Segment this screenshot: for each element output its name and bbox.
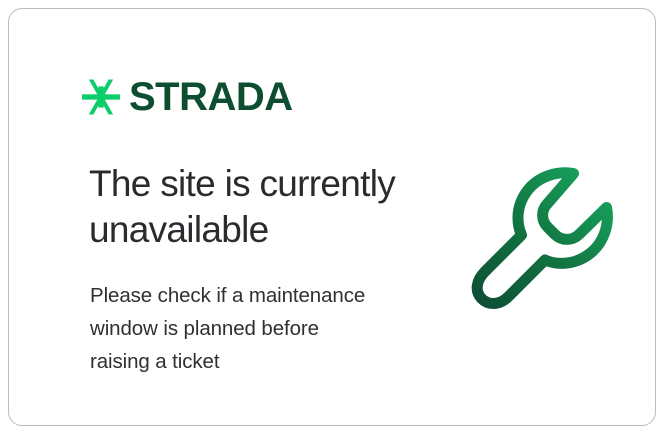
page-description-line: Please check if a maintenance (90, 279, 410, 312)
page-description-line: window is planned before (90, 312, 410, 345)
page-title: The site is currently unavailable (89, 161, 419, 252)
page-description: Please check if a maintenance window is … (90, 279, 410, 379)
error-page: STRADA The site is currently unavailable… (0, 0, 666, 436)
page-description-line: raising a ticket (90, 345, 410, 378)
status-card: STRADA The site is currently unavailable… (8, 8, 656, 426)
brand-wordmark: STRADA (129, 77, 293, 117)
wrench-icon (461, 159, 627, 323)
brand-logo: STRADA (82, 77, 293, 117)
strada-asterisk-icon (82, 78, 120, 116)
